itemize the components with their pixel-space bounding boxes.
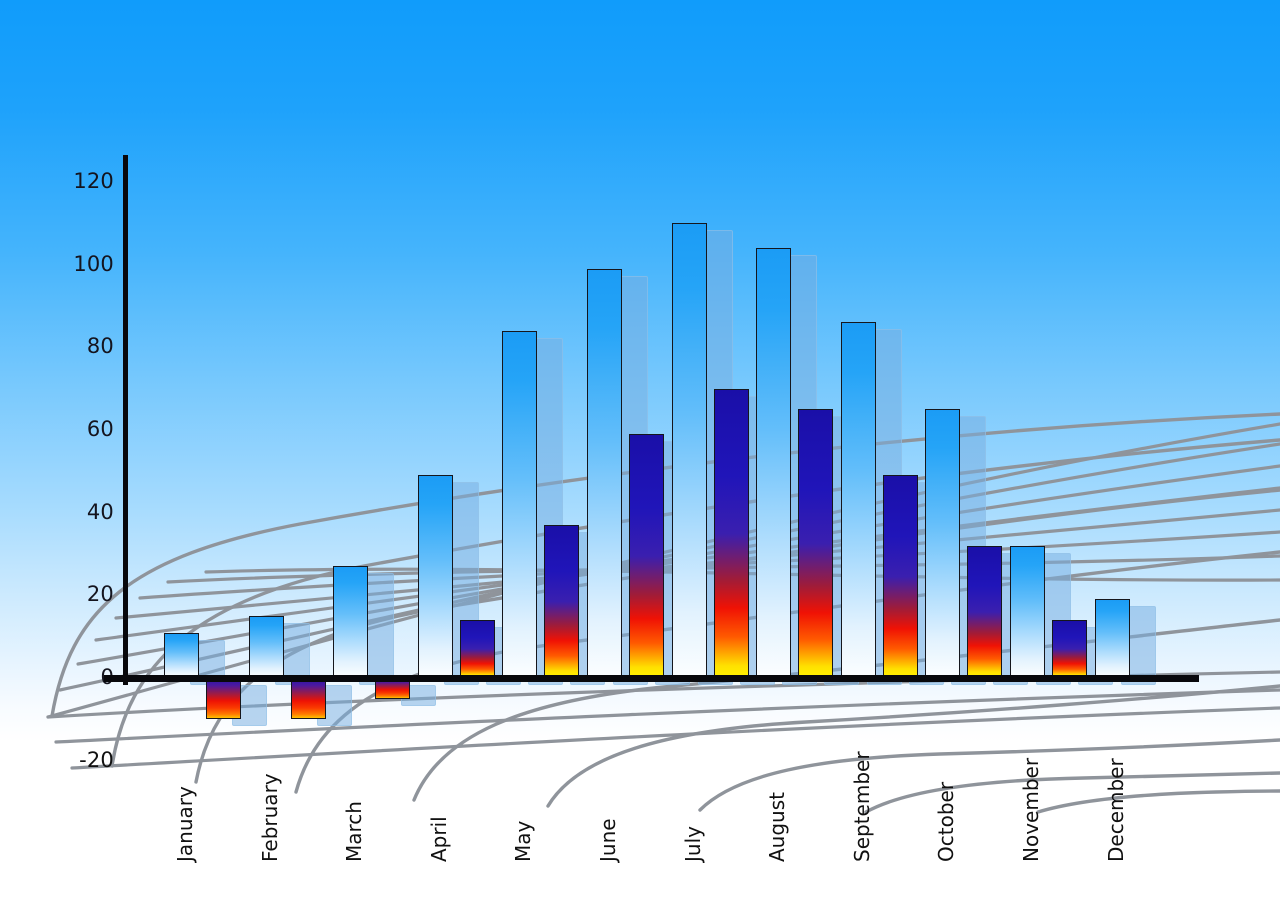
bar-september-series2[interactable] [883, 475, 918, 678]
bar-july-series1[interactable] [672, 223, 707, 678]
bar-front [587, 269, 622, 678]
bar-front [460, 620, 495, 678]
bar-front [206, 678, 241, 719]
bar-october-series2[interactable] [967, 546, 1002, 678]
bar-september-series1[interactable] [841, 322, 876, 678]
bar-april-series1[interactable] [418, 475, 453, 678]
bar-front [1052, 620, 1087, 678]
y-axis-tick-40: 40 [52, 500, 114, 524]
bar-front [333, 566, 368, 678]
y-axis-tick-100: 100 [52, 252, 114, 276]
x-axis-label-june: June [596, 818, 620, 862]
bar-august-series2[interactable] [798, 409, 833, 678]
bar-front [291, 678, 326, 719]
bar-december-series1[interactable] [1095, 599, 1130, 678]
bar-front [967, 546, 1002, 678]
bar-front [672, 223, 707, 678]
bar-front [502, 331, 537, 678]
bar-march-series1[interactable] [333, 566, 368, 678]
bar-november-series2[interactable] [1052, 620, 1087, 678]
x-axis-label-march: March [342, 801, 366, 862]
bar-front [418, 475, 453, 678]
bar-may-series2[interactable] [544, 525, 579, 678]
bar-june-series2[interactable] [629, 434, 664, 678]
x-axis-label-october: October [934, 782, 958, 862]
bar-october-series1[interactable] [925, 409, 960, 678]
bar-august-series1[interactable] [756, 248, 791, 678]
bar-front [841, 322, 876, 678]
bar-front [883, 475, 918, 678]
bar-front [798, 409, 833, 678]
bar-front [544, 525, 579, 678]
x-axis-label-february: February [258, 773, 282, 862]
bar-january-series2[interactable] [206, 678, 241, 719]
y-axis-tick-80: 80 [52, 334, 114, 358]
bar-april-series2[interactable] [460, 620, 495, 678]
x-axis-label-november: November [1019, 758, 1043, 862]
bar-front [164, 633, 199, 678]
bar-front [925, 409, 960, 678]
x-axis-label-april: April [427, 816, 451, 862]
bar-front [1010, 546, 1045, 678]
x-axis-label-september: September [850, 751, 874, 862]
bar-front [714, 389, 749, 678]
x-axis-label-july: July [681, 826, 705, 862]
plot-area: 120100806040200-20JanuaryFebruaryMarchAp… [0, 0, 1280, 905]
chart-canvas: 120100806040200-20JanuaryFebruaryMarchAp… [0, 0, 1280, 905]
bar-february-series1[interactable] [249, 616, 284, 678]
bar-january-series1[interactable] [164, 633, 199, 678]
bar-february-series2[interactable] [291, 678, 326, 719]
bar-front [1095, 599, 1130, 678]
x-axis-label-december: December [1104, 758, 1128, 862]
bar-front [629, 434, 664, 678]
y-axis-tick-minus20: -20 [52, 748, 114, 772]
y-axis-tick-60: 60 [52, 417, 114, 441]
bar-front [249, 616, 284, 678]
bar-june-series1[interactable] [587, 269, 622, 678]
bar-may-series1[interactable] [502, 331, 537, 678]
bar-front [756, 248, 791, 678]
y-axis-tick-20: 20 [52, 582, 114, 606]
x-axis-label-january: January [173, 786, 197, 862]
y-axis-line [123, 155, 128, 685]
y-axis-tick-120: 120 [52, 169, 114, 193]
x-axis-line [104, 675, 1199, 682]
bar-november-series1[interactable] [1010, 546, 1045, 678]
x-axis-label-may: May [511, 821, 535, 862]
bar-july-series2[interactable] [714, 389, 749, 678]
x-axis-label-august: August [765, 792, 789, 862]
